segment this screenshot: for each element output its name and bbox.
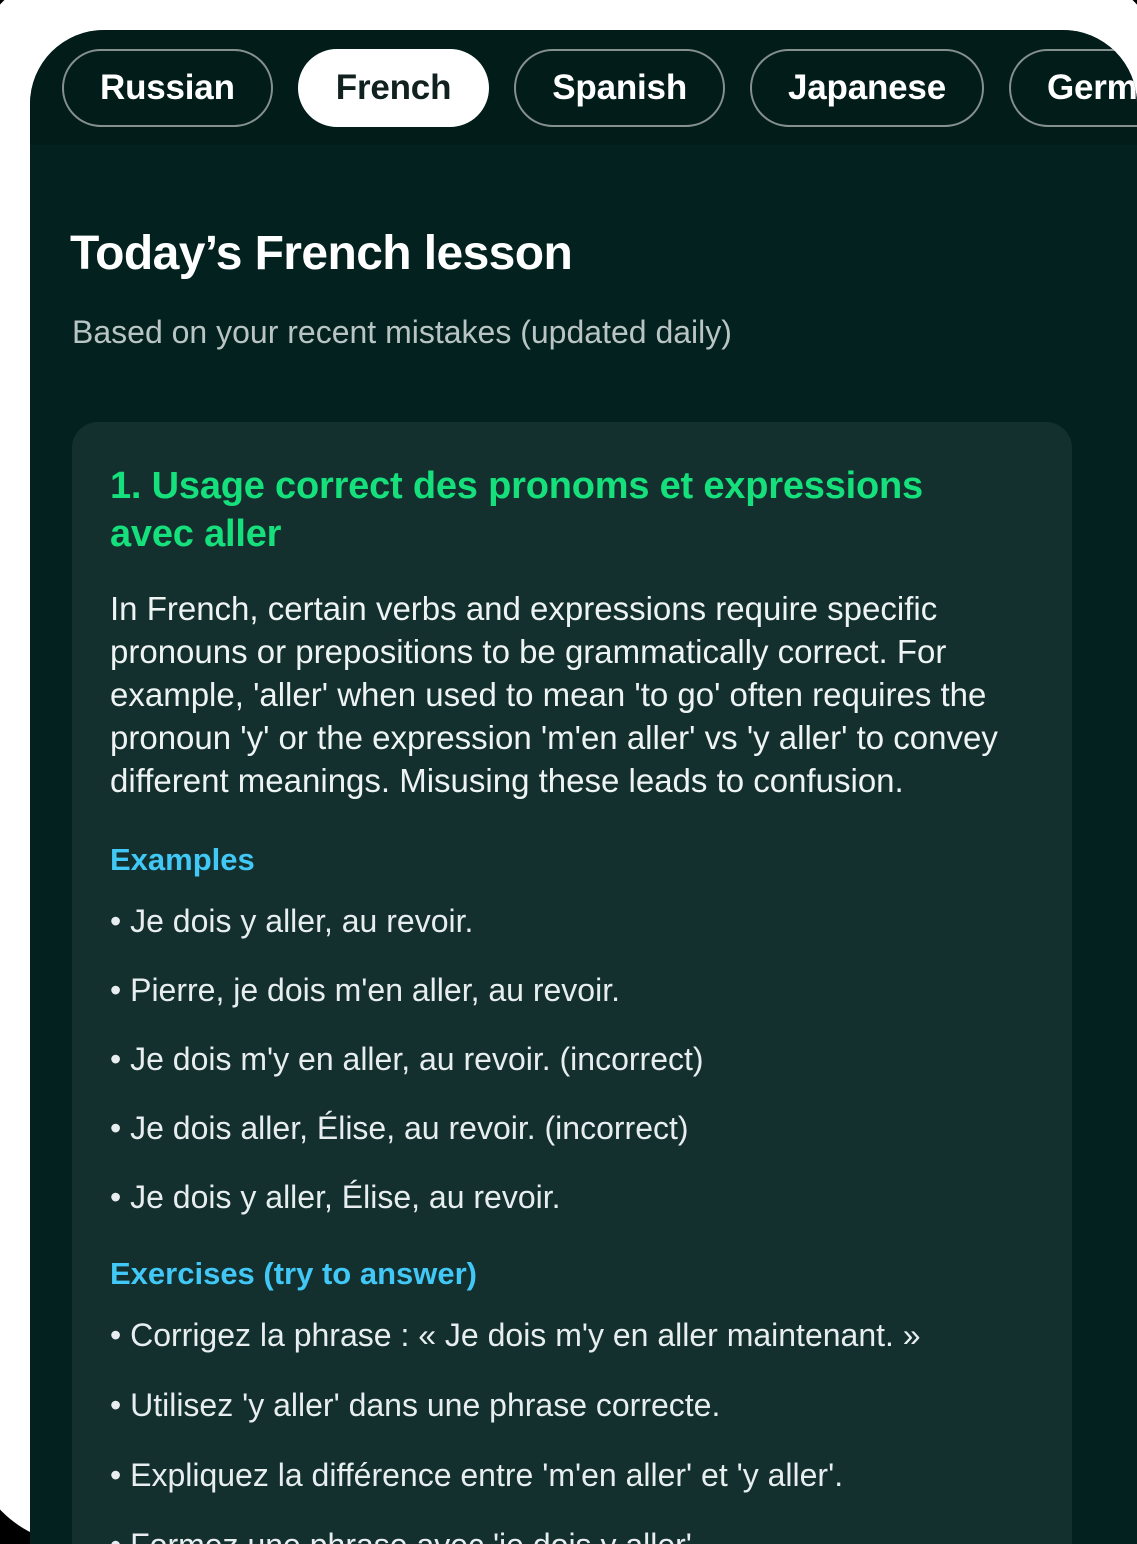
tab-german[interactable]: German (1009, 49, 1137, 127)
list-item: • Expliquez la différence entre 'm'en al… (110, 1456, 1034, 1495)
tab-french-label: French (336, 68, 452, 108)
tab-russian[interactable]: Russian (62, 49, 273, 127)
list-item: • Je dois y aller, Élise, au revoir. (110, 1178, 1034, 1217)
list-item: • Utilisez 'y aller' dans une phrase cor… (110, 1386, 1034, 1425)
list-item-text: Je dois y aller, Élise, au revoir. (130, 1179, 560, 1215)
list-item-text: Je dois aller, Élise, au revoir. (incorr… (130, 1110, 688, 1146)
list-item: • Je dois y aller, au revoir. (110, 902, 1034, 941)
list-item-text: Je dois m'y en aller, au revoir. (incorr… (130, 1041, 703, 1077)
lesson-body-text: In French, certain verbs and expressions… (110, 587, 1034, 803)
list-item: • Je dois aller, Élise, au revoir. (inco… (110, 1109, 1034, 1148)
examples-list: • Je dois y aller, au revoir. • Pierre, … (110, 902, 1034, 1217)
bullet-icon: • (110, 1457, 130, 1493)
tab-japanese[interactable]: Japanese (750, 49, 984, 127)
lesson-card: 1. Usage correct des pronoms et expressi… (72, 422, 1072, 1544)
bullet-icon: • (110, 1317, 130, 1353)
list-item-text: Expliquez la différence entre 'm'en alle… (130, 1457, 843, 1493)
list-item: • Pierre, je dois m'en aller, au revoir. (110, 971, 1034, 1010)
list-item-text: Utilisez 'y aller' dans une phrase corre… (130, 1387, 720, 1423)
language-tab-bar: Russian French Spanish Japanese German (30, 30, 1137, 145)
list-item-text: Corrigez la phrase : « Je dois m'y en al… (130, 1317, 921, 1353)
tab-japanese-label: Japanese (788, 68, 946, 108)
tab-german-label: German (1047, 68, 1137, 108)
tab-russian-label: Russian (100, 68, 235, 108)
bullet-icon: • (110, 903, 130, 939)
phone-screen: Russian French Spanish Japanese German T… (30, 30, 1137, 1544)
bullet-icon: • (110, 1179, 130, 1215)
bullet-icon: • (110, 972, 130, 1008)
exercises-list: • Corrigez la phrase : « Je dois m'y en … (110, 1316, 1034, 1544)
bullet-icon: • (110, 1387, 130, 1423)
examples-heading: Examples (110, 841, 1034, 878)
list-item: • Formez une phrase avec 'je dois y alle… (110, 1526, 1034, 1544)
tab-spanish-label: Spanish (552, 68, 687, 108)
page-title: Today’s French lesson (70, 227, 572, 281)
lesson-heading: 1. Usage correct des pronoms et expressi… (110, 462, 1000, 559)
lesson-content-area: Today’s French lesson Based on your rece… (30, 145, 1137, 1544)
list-item: • Corrigez la phrase : « Je dois m'y en … (110, 1316, 1034, 1355)
page-subtitle: Based on your recent mistakes (updated d… (72, 313, 732, 351)
tab-spanish[interactable]: Spanish (514, 49, 725, 127)
language-tab-strip[interactable]: Russian French Spanish Japanese German (62, 49, 1137, 127)
list-item-text: Je dois y aller, au revoir. (130, 903, 473, 939)
phone-frame: Russian French Spanish Japanese German T… (0, 0, 1137, 1514)
tab-french[interactable]: French (298, 49, 490, 127)
bullet-icon: • (110, 1527, 130, 1544)
bullet-icon: • (110, 1110, 130, 1146)
list-item: • Je dois m'y en aller, au revoir. (inco… (110, 1040, 1034, 1079)
bullet-icon: • (110, 1041, 130, 1077)
exercises-heading: Exercises (try to answer) (110, 1255, 1034, 1292)
list-item-text: Pierre, je dois m'en aller, au revoir. (130, 972, 620, 1008)
list-item-text: Formez une phrase avec 'je dois y aller'… (130, 1527, 701, 1544)
